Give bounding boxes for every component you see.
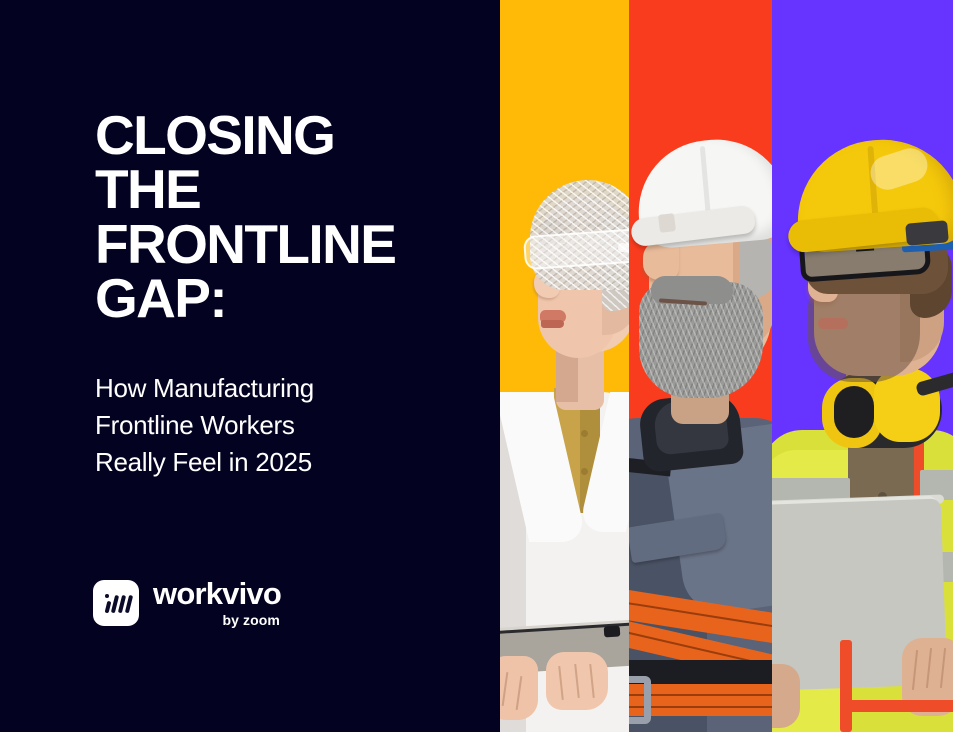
cover-panel-yellow xyxy=(500,0,629,732)
cover-panel-purple xyxy=(772,0,953,732)
subtitle-line-2: Frontline Workers xyxy=(95,407,455,444)
cover-panel-orange xyxy=(629,0,772,732)
page-title: CLOSING THE FRONTLINE GAP: xyxy=(95,108,475,326)
report-cover: CLOSING THE FRONTLINE GAP: How Manufactu… xyxy=(0,0,953,732)
workvivo-logo-lockup: workvivo by zoom xyxy=(93,578,281,628)
headline-line-2: THE xyxy=(95,162,475,216)
figure-senior-construction-worker xyxy=(629,0,772,732)
figure-young-industrial-engineer xyxy=(774,0,953,732)
cover-text-panel: CLOSING THE FRONTLINE GAP: How Manufactu… xyxy=(0,0,500,732)
subtitle-line-1: How Manufacturing xyxy=(95,370,455,407)
headline-line-3: FRONTLINE xyxy=(95,217,475,271)
logo-wordmark: workvivo xyxy=(153,578,281,611)
headline-line-1: CLOSING xyxy=(95,108,475,162)
figure-food-lab-worker xyxy=(500,0,629,732)
logo-tagline: by zoom xyxy=(223,612,280,628)
workvivo-logo-mark-icon xyxy=(93,580,139,626)
subtitle-line-3: Really Feel in 2025 xyxy=(95,444,455,481)
page-subtitle: How Manufacturing Frontline Workers Real… xyxy=(95,370,455,481)
headline-line-4: GAP: xyxy=(95,271,475,325)
